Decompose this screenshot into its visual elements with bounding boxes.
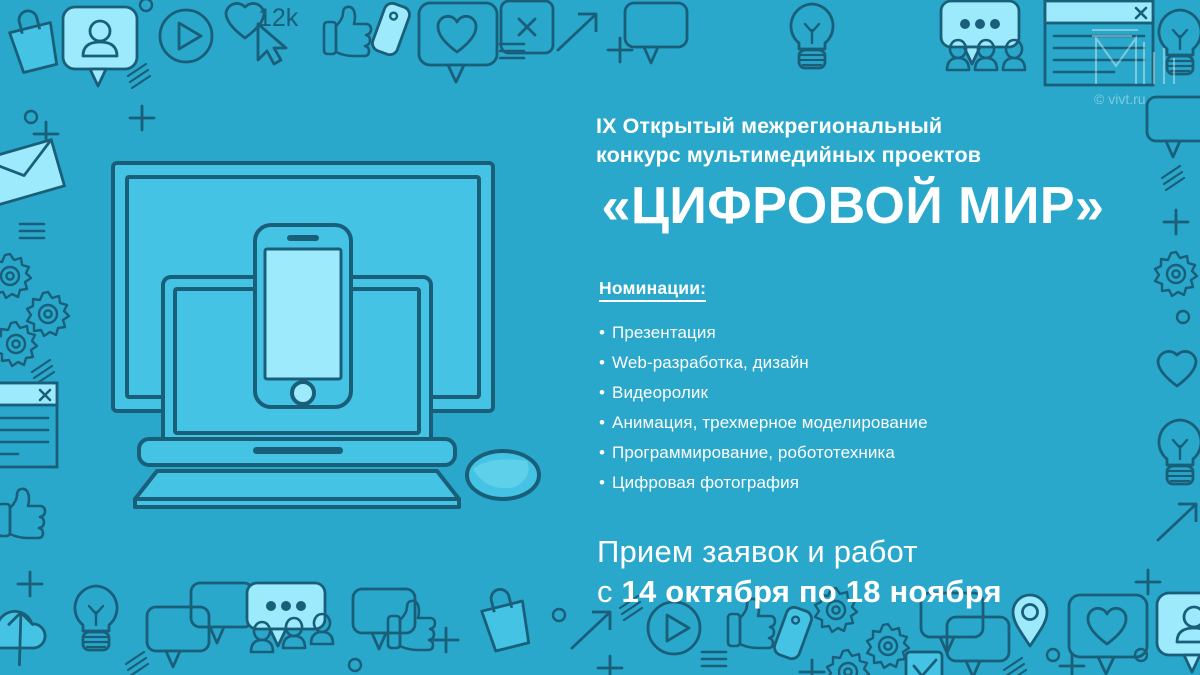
- nomination-label: Программирование, робототехника: [612, 438, 895, 468]
- speed-lines-icon: [128, 64, 150, 88]
- user-bubble-icon: [1157, 593, 1200, 672]
- browser-window-icon: [1045, 1, 1153, 85]
- watermark-text: © vivt.ru: [1094, 91, 1146, 107]
- like-count-label: 12k: [258, 4, 299, 32]
- page-title: «ЦИФРОВОЙ МИР»: [585, 176, 1145, 236]
- people-group-icon: [251, 614, 333, 652]
- list-item: • Цифровая фотография: [599, 468, 1145, 498]
- circle-dot-icon: [1047, 649, 1059, 661]
- deadline-line-1: Прием заявок и работ: [597, 532, 1145, 572]
- menu-lines-icon: [702, 652, 726, 666]
- deadline-prefix: с: [597, 574, 622, 609]
- lightbulb-icon: [1159, 420, 1200, 484]
- thumbs-up-icon: [0, 489, 45, 538]
- smartphone-graphic: [255, 225, 351, 407]
- gear-icon: [1155, 252, 1197, 296]
- play-circle-icon: [160, 10, 212, 62]
- deadline-dates: 14 октября по 18 ноября: [622, 574, 1002, 609]
- shopping-bag-icon: [6, 6, 61, 73]
- arrow-up-right-icon: [558, 14, 596, 50]
- bullet-marker: •: [599, 408, 612, 438]
- chat-bubble-icon: [625, 3, 687, 63]
- list-item: • Анимация, трехмерное моделирование: [599, 408, 1145, 438]
- arrow-up-right-icon: [572, 612, 610, 648]
- plus-icon: [1164, 210, 1188, 234]
- gear-icon: [27, 292, 69, 336]
- chat-bubble-icon: [1147, 97, 1200, 157]
- lightbulb-icon: [1159, 10, 1200, 74]
- bullet-marker: •: [599, 468, 612, 498]
- phone-tag-icon: [370, 1, 412, 57]
- list-item: • Программирование, робототехника: [599, 438, 1145, 468]
- menu-lines-icon: [500, 44, 524, 58]
- circle-dot-icon: [349, 659, 361, 671]
- people-group-icon: [947, 40, 1025, 70]
- plus-icon: [18, 572, 42, 596]
- heart-outline-icon: [226, 3, 264, 38]
- plus-icon: [598, 656, 622, 675]
- circle-dot-icon: [553, 609, 565, 621]
- typing-bubble-icon: [941, 1, 1019, 64]
- nomination-label: Анимация, трехмерное моделирование: [612, 408, 928, 438]
- thumbs-up-icon: [324, 7, 371, 56]
- nomination-label: Цифровая фотография: [612, 468, 799, 498]
- user-bubble-icon: [63, 7, 137, 86]
- bullet-marker: •: [599, 318, 612, 348]
- plus-icon: [800, 660, 824, 675]
- list-item: • Презентация: [599, 318, 1145, 348]
- shopping-bag-icon: [478, 585, 533, 652]
- devices-illustration: [95, 155, 565, 515]
- lightbulb-icon: [75, 586, 117, 650]
- deadline-line-2: с 14 октября по 18 ноября: [597, 572, 1145, 612]
- bullet-marker: •: [599, 438, 612, 468]
- chat-bubble-icon: [191, 583, 253, 643]
- nomination-label: Видеоролик: [612, 378, 708, 408]
- browser-window-icon: [0, 383, 57, 467]
- heart-bubble-icon: [419, 3, 497, 82]
- plus-icon: [34, 122, 58, 146]
- heart-outline-icon: [1158, 351, 1196, 386]
- chat-bubble-icon: [147, 607, 209, 667]
- gear-icon: [0, 322, 37, 366]
- cursor-arrow-icon: [258, 24, 286, 64]
- speed-lines-icon: [126, 652, 148, 675]
- text-content-block: IX Открытый межрегиональный конкурс муль…: [585, 112, 1145, 612]
- deadline-section: Прием заявок и работ с 14 октября по 18 …: [597, 532, 1145, 612]
- typing-bubble-icon: [247, 583, 325, 646]
- checklist-icon: [906, 652, 942, 675]
- plus-icon: [608, 38, 632, 62]
- circle-dot-icon: [1135, 649, 1147, 661]
- arrow-up-right-icon: [0, 613, 46, 665]
- plus-icon: [130, 106, 154, 130]
- close-card-icon: [501, 1, 553, 53]
- mouse-graphic: [467, 451, 539, 499]
- bullet-marker: •: [599, 378, 612, 408]
- arrow-up-right-icon: [1158, 504, 1196, 540]
- event-kicker: IX Открытый межрегиональный конкурс муль…: [596, 112, 1145, 170]
- kicker-line-1: IX Открытый межрегиональный: [596, 112, 1145, 141]
- chat-bubble-icon: [947, 617, 1009, 675]
- bullet-marker: •: [599, 348, 612, 378]
- speed-lines-icon: [1004, 658, 1026, 675]
- gear-icon: [0, 254, 31, 298]
- phone-tag-icon: [772, 605, 814, 661]
- vivt-logo-icon: [1092, 30, 1174, 84]
- nominations-list: • Презентация • Web-разработка, дизайн •…: [599, 318, 1145, 498]
- circle-dot-icon: [140, 0, 152, 11]
- speed-lines-icon: [1162, 166, 1184, 190]
- lightbulb-icon: [791, 4, 833, 68]
- list-item: • Видеоролик: [599, 378, 1145, 408]
- plus-icon: [434, 628, 458, 652]
- nominations-section: Номинации: • Презентация • Web-разработк…: [599, 278, 1145, 498]
- watermark: © vivt.ru: [1086, 18, 1192, 110]
- thumbs-up-icon: [388, 601, 435, 650]
- envelope-icon: [0, 140, 64, 206]
- nominations-heading: Номинации:: [599, 278, 706, 302]
- circle-dot-icon: [25, 111, 37, 123]
- menu-lines-icon: [20, 224, 44, 238]
- speed-lines-icon: [32, 360, 54, 384]
- cloud-upload-icon: [0, 611, 45, 648]
- plus-icon: [1060, 654, 1084, 675]
- poster-canvas: 12k: [0, 0, 1200, 675]
- circle-dot-icon: [1177, 311, 1189, 323]
- gear-icon: [867, 624, 909, 668]
- chat-bubble-icon: [353, 589, 415, 649]
- list-item: • Web-разработка, дизайн: [599, 348, 1145, 378]
- nomination-label: Презентация: [612, 318, 716, 348]
- gear-icon: [827, 650, 869, 675]
- nomination-label: Web-разработка, дизайн: [612, 348, 809, 378]
- kicker-line-2: конкурс мультимедийных проектов: [596, 141, 1145, 170]
